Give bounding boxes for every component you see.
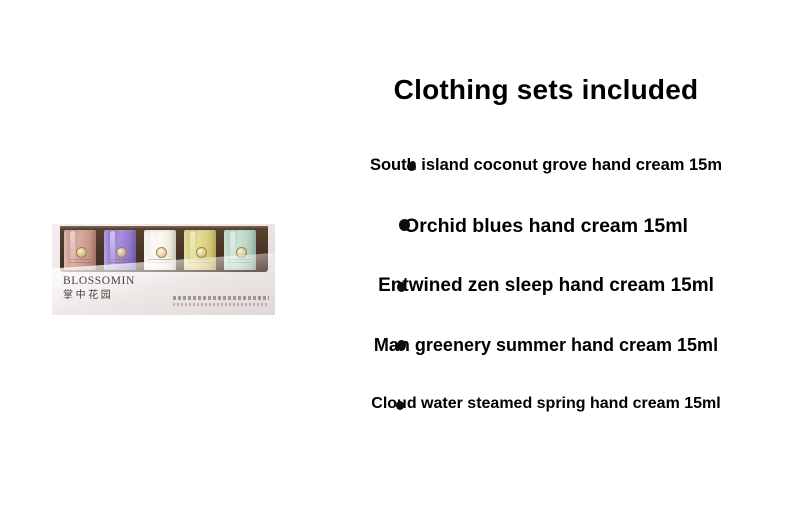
brand-lockup: BLOSSOMIN 掌中花园 [63, 276, 135, 301]
brand-name: BLOSSOMIN [63, 276, 135, 288]
list-item: South island coconut grove hand cream 15… [292, 150, 800, 180]
hand-cream-tube-cream [144, 230, 176, 270]
fine-print-line-1 [173, 296, 269, 300]
list-item: Orchid blues hand cream 15ml [292, 211, 800, 241]
tube-caption-text [189, 259, 211, 265]
tube-emblem-icon [196, 247, 207, 258]
page-root: BLOSSOMIN 掌中花园 Clothing sets included So… [0, 0, 800, 512]
tube-caption-text [149, 259, 171, 265]
list-item-label: Man greenery summer hand cream 15ml [374, 335, 718, 355]
included-items-list: South island coconut grove hand cream 15… [292, 150, 800, 419]
tube-emblem-icon [76, 247, 87, 258]
hand-cream-tube-lavender [104, 230, 136, 270]
tube-caption-text [69, 259, 91, 265]
tube-emblem-icon [236, 247, 247, 258]
tube-emblem-icon [116, 247, 127, 258]
product-image[interactable]: BLOSSOMIN 掌中花园 [52, 224, 275, 315]
hand-cream-tube-yellow [184, 230, 216, 270]
list-item-label: Orchid blues hand cream 15ml [404, 215, 688, 237]
product-box: BLOSSOMIN 掌中花园 [52, 224, 275, 315]
list-item-label: South island coconut grove hand cream 15… [370, 156, 722, 174]
fine-print-line-2 [173, 303, 269, 306]
box-fine-print [173, 296, 269, 306]
page-title: Clothing sets included [0, 74, 800, 106]
tube-caption-text [229, 259, 251, 265]
hand-cream-tube-mint [224, 230, 256, 270]
list-item: Entwined zen sleep hand cream 15ml [292, 271, 800, 301]
list-item-label: Entwined zen sleep hand cream 15ml [378, 275, 714, 296]
tube-emblem-icon [156, 247, 167, 258]
list-item-label: Cloud water steamed spring hand cream 15… [371, 395, 720, 412]
hand-cream-tube-group [64, 230, 264, 272]
list-item: Cloud water steamed spring hand cream 15… [292, 389, 800, 419]
hand-cream-tube-rose [64, 230, 96, 270]
brand-name-chinese: 掌中花园 [63, 291, 135, 301]
tube-caption-text [109, 259, 131, 265]
list-item: Man greenery summer hand cream 15ml [292, 330, 800, 360]
